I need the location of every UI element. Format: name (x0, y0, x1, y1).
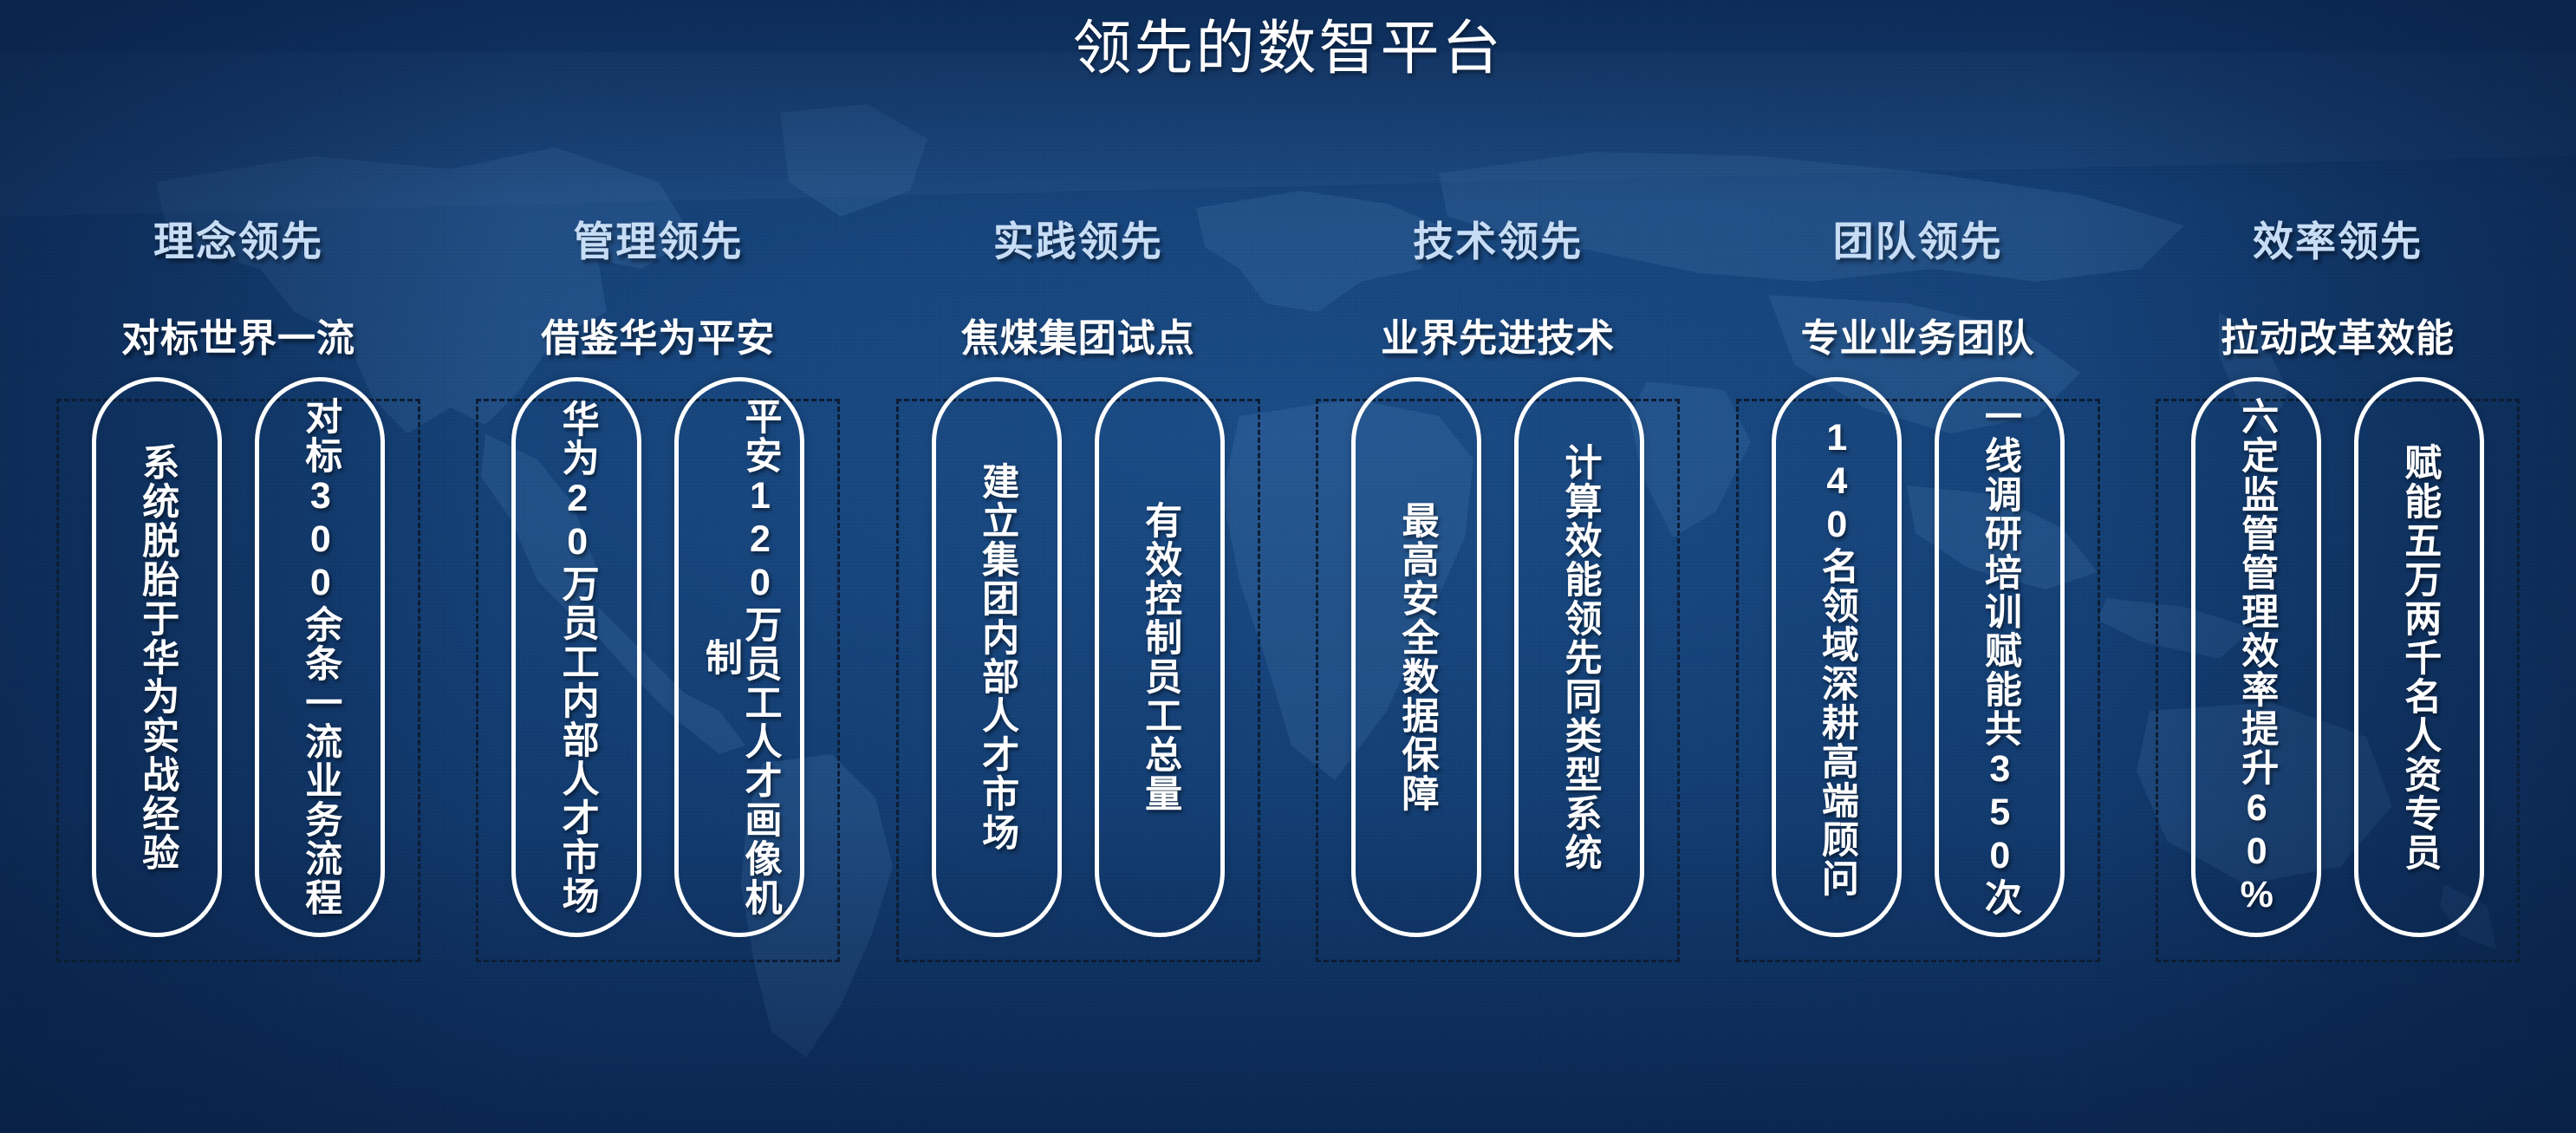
pill-group: 建立集团内部人才市场 有效控制员工总量 (896, 399, 1260, 962)
pill-card[interactable]: 有效控制员工总量 (1095, 377, 1225, 937)
pill-label: 有效控制员工总量 (1140, 501, 1180, 813)
pill-label: 一线调研培训赋能共350次 (1980, 397, 2020, 917)
column-subheading: 业界先进技术 (1381, 307, 1615, 362)
pill-card[interactable]: 系统脱胎于华为实战经验 (92, 377, 222, 937)
pill-group: 六定监管管理效率提升60% 赋能五万两千名人资专员 (2156, 399, 2520, 962)
columns-container: 理念领先 对标世界一流 系统脱胎于华为实战经验 对标300余条一流业务流程 管理… (35, 208, 2541, 962)
pill-label: 华为20万员工内部人才市场 (557, 400, 597, 915)
pill-group: 华为20万员工内部人才市场 平安120万员工人才画像机制 (476, 399, 840, 962)
pill-label: 平安120万员工人才画像机制 (700, 397, 779, 917)
pill-label: 最高安全数据保障 (1396, 501, 1436, 813)
column-practice-lead: 实践领先 焦煤集团试点 建立集团内部人才市场 有效控制员工总量 (875, 208, 1282, 962)
pill-group: 系统脱胎于华为实战经验 对标300余条一流业务流程 (56, 399, 420, 962)
column-heading: 实践领先 (993, 208, 1163, 268)
column-lineage-lead: 理念领先 对标世界一流 系统脱胎于华为实战经验 对标300余条一流业务流程 (35, 208, 442, 962)
pill-card[interactable]: 平安120万员工人才画像机制 (674, 377, 804, 937)
column-heading: 管理领先 (573, 208, 743, 268)
column-subheading: 对标世界一流 (121, 307, 355, 362)
pill-card[interactable]: 一线调研培训赋能共350次 (1935, 377, 2065, 937)
page-title: 领先的数智平台 (0, 14, 2576, 85)
pill-card[interactable]: 建立集团内部人才市场 (932, 377, 1062, 937)
column-technology-lead: 技术领先 业界先进技术 最高安全数据保障 计算效能领先同类型系统 (1294, 208, 1701, 962)
pill-label: 赋能五万两千名人资专员 (2399, 443, 2439, 872)
pill-card[interactable]: 最高安全数据保障 (1351, 377, 1481, 937)
pill-label: 六定监管管理效率提升60% (2236, 397, 2276, 917)
pill-group: 最高安全数据保障 计算效能领先同类型系统 (1316, 399, 1680, 962)
column-heading: 技术领先 (1413, 208, 1583, 268)
column-heading: 理念领先 (153, 208, 323, 268)
pill-label: 计算效能领先同类型系统 (1559, 443, 1599, 872)
column-management-lead: 管理领先 借鉴华为平安 华为20万员工内部人才市场 平安120万员工人才画像机制 (454, 208, 862, 962)
pill-label: 系统脱胎于华为实战经验 (137, 443, 177, 872)
pill-card[interactable]: 计算效能领先同类型系统 (1514, 377, 1644, 937)
pill-label: 建立集团内部人才市场 (977, 462, 1017, 852)
column-subheading: 专业业务团队 (1801, 307, 2035, 362)
pill-card[interactable]: 赋能五万两千名人资专员 (2354, 377, 2484, 937)
pill-label: 140名领域深耕高端顾问 (1817, 417, 1857, 898)
pill-card[interactable]: 华为20万员工内部人才市场 (511, 377, 641, 937)
pill-card[interactable]: 对标300余条一流业务流程 (255, 377, 385, 937)
column-subheading: 借鉴华为平安 (541, 307, 775, 362)
column-subheading: 焦煤集团试点 (961, 307, 1195, 362)
pill-card[interactable]: 140名领域深耕高端顾问 (1772, 377, 1902, 937)
column-heading: 效率领先 (2253, 208, 2423, 268)
column-heading: 团队领先 (1833, 208, 2003, 268)
column-efficiency-lead: 效率领先 拉动改革效能 六定监管管理效率提升60% 赋能五万两千名人资专员 (2134, 208, 2541, 962)
slide-canvas: 领先的数智平台 理念领先 对标世界一流 系统脱胎于华为实战经验 对标300余条一… (0, 0, 2576, 1133)
pill-label: 对标300余条一流业务流程 (300, 397, 340, 917)
pill-group: 140名领域深耕高端顾问 一线调研培训赋能共350次 (1736, 399, 2100, 962)
column-subheading: 拉动改革效能 (2221, 307, 2455, 362)
column-team-lead: 团队领先 专业业务团队 140名领域深耕高端顾问 一线调研培训赋能共350次 (1714, 208, 2122, 962)
pill-card[interactable]: 六定监管管理效率提升60% (2191, 377, 2321, 937)
